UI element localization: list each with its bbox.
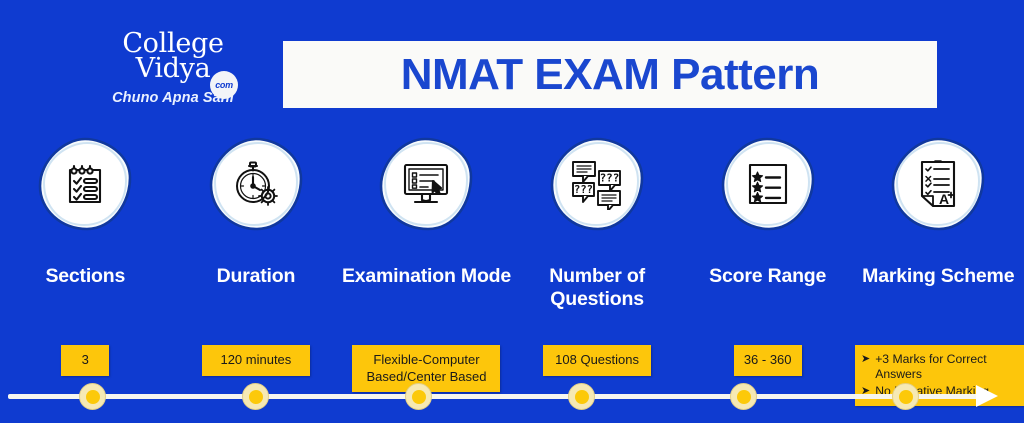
column-label: Sections <box>0 265 171 288</box>
brand-tagline: Chuno Apna Sahi <box>78 90 268 106</box>
dotcom-badge: com <box>210 71 238 99</box>
brand-logo: College Vidya com Chuno Apna Sahi <box>78 31 268 106</box>
value-box: 120 minutes <box>202 345 310 376</box>
column-marking-scheme: A Marking Scheme ➤ +3 Marks for Correct … <box>853 130 1024 423</box>
pattern-columns: Sections 3 <box>0 130 1024 423</box>
star-list-icon <box>720 136 816 232</box>
bullet-item: ➤ +3 Marks for Correct Answers <box>861 352 1016 382</box>
column-duration: Duration 120 minutes <box>171 130 342 423</box>
value-box: Flexible-Computer Based/Center Based <box>352 345 500 392</box>
bullet-arrow-icon: ➤ <box>861 352 870 367</box>
nmat-exam-pattern-infographic: College Vidya com Chuno Apna Sahi NMAT E… <box>0 0 1024 423</box>
computer-monitor-icon <box>378 136 474 232</box>
svg-text:???: ??? <box>574 184 593 196</box>
bullet-item: ➤ No Negative Marking <box>861 384 1016 399</box>
bullet-label: +3 Marks for Correct Answers <box>875 352 1015 382</box>
bullet-arrow-icon: ➤ <box>861 384 870 399</box>
column-score-range: Score Range 36 - 360 <box>682 130 853 423</box>
value-box: 108 Questions <box>543 345 651 376</box>
question-speech-bubbles-icon: ??? ??? <box>549 136 645 232</box>
title-banner: NMAT EXAM Pattern <box>283 41 937 108</box>
graded-paper-a-plus-icon: A <box>890 136 986 232</box>
checklist-clipboard-icon <box>37 136 133 232</box>
svg-text:???: ??? <box>600 171 620 184</box>
bullet-label: No Negative Marking <box>875 384 989 399</box>
column-label: Score Range <box>682 265 853 288</box>
column-label: Number of Questions <box>512 265 683 311</box>
column-label: Marking Scheme <box>853 265 1024 288</box>
page-title: NMAT EXAM Pattern <box>401 50 819 100</box>
logo-wordmark: College Vidya com <box>78 31 268 81</box>
logo-line-vidya: Vidya <box>78 56 268 81</box>
stopwatch-gear-icon <box>208 136 304 232</box>
column-sections: Sections 3 <box>0 130 171 423</box>
value-box-bullets: ➤ +3 Marks for Correct Answers ➤ No Nega… <box>855 345 1024 406</box>
column-label: Examination Mode <box>341 265 512 288</box>
column-label: Duration <box>171 265 342 288</box>
svg-text:A: A <box>939 191 949 207</box>
value-box: 3 <box>61 345 109 376</box>
value-box: 36 - 360 <box>734 345 802 376</box>
column-examination-mode: Examination Mode Flexible-Computer Based… <box>341 130 512 423</box>
column-number-of-questions: ??? ??? Number of Questions 108 <box>512 130 683 423</box>
header: College Vidya com Chuno Apna Sahi NMAT E… <box>0 0 1024 130</box>
